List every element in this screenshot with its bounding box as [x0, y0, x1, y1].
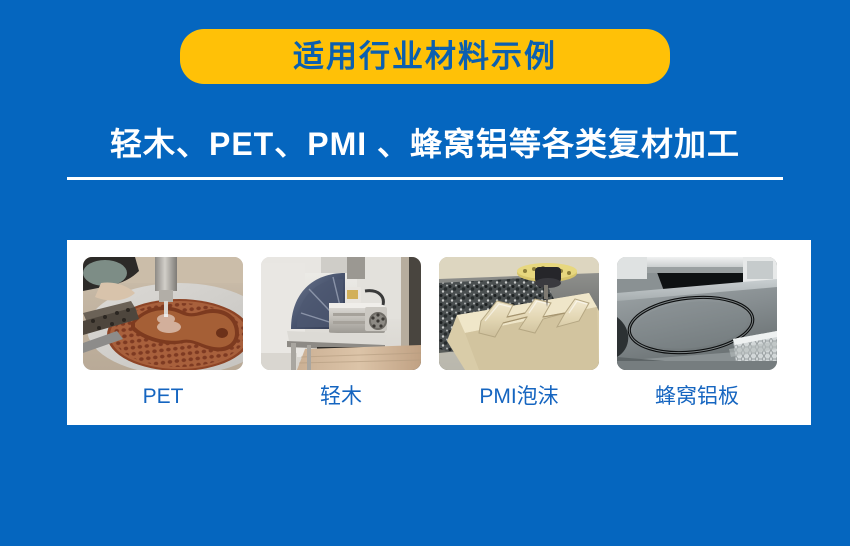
balsa-wood-bandsaw-photo: [261, 257, 421, 370]
material-card-caption: PET: [143, 386, 184, 407]
material-card-pet[interactable]: PET: [83, 257, 243, 407]
page-title-badge: 适用行业材料示例: [180, 29, 670, 84]
material-examples-panel: PET: [67, 240, 811, 425]
subtitle: 轻木、PET、PMI 、蜂窝铝等各类复材加工: [110, 127, 740, 162]
pmi-foam-milling-photo: [439, 257, 599, 370]
material-card-caption: 蜂窝铝板: [655, 386, 739, 407]
material-card-honeycomb-aluminum[interactable]: 蜂窝铝板: [617, 257, 777, 407]
material-card-caption: PMI泡沫: [479, 386, 558, 407]
material-card-list: PET: [83, 257, 795, 407]
material-card-caption: 轻木: [320, 386, 362, 407]
material-card-pmi-foam[interactable]: PMI泡沫: [439, 257, 599, 407]
page-title: 适用行业材料示例: [293, 41, 557, 72]
subtitle-underline: [67, 177, 783, 180]
material-card-balsa[interactable]: 轻木: [261, 257, 421, 407]
honeycomb-aluminum-panel-photo: [617, 257, 777, 370]
pet-cnc-machining-photo: [83, 257, 243, 370]
subtitle-container: 轻木、PET、PMI 、蜂窝铝等各类复材加工: [0, 127, 850, 162]
